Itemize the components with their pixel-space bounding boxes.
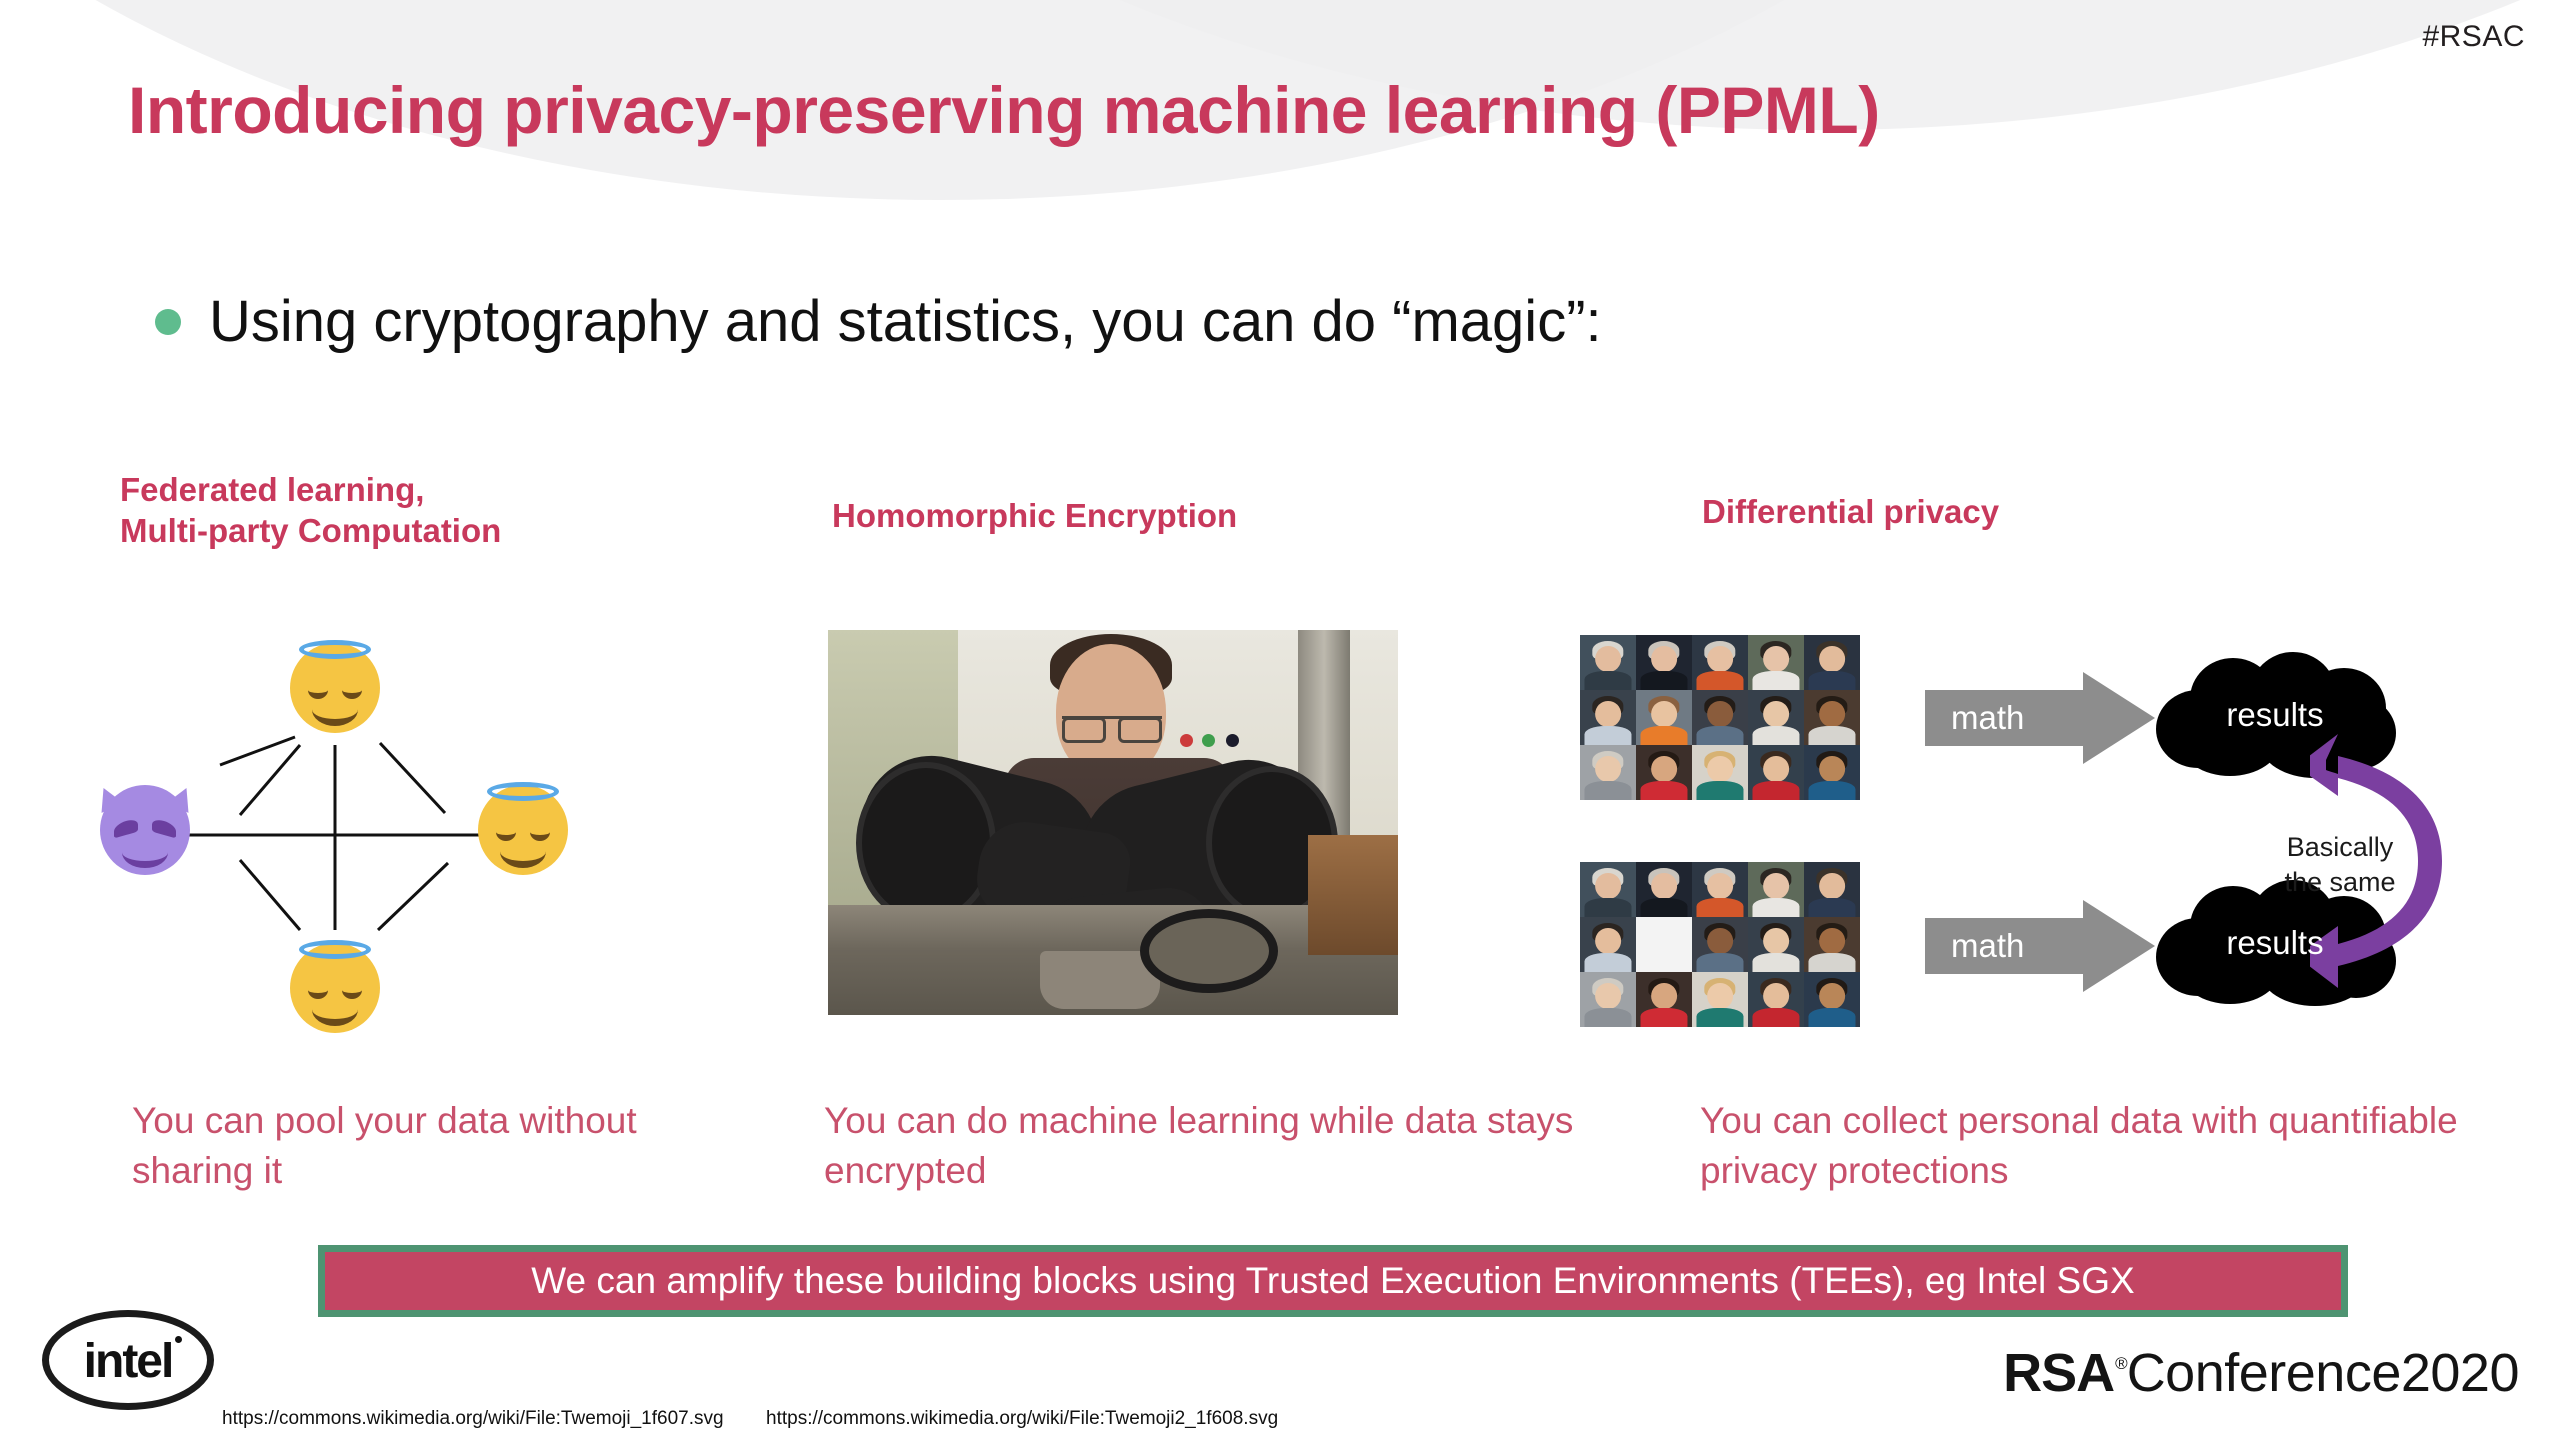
column-heading-homomorphic-encryption: Homomorphic Encryption: [832, 496, 1237, 537]
intel-logo-registered-dot: [175, 1336, 182, 1343]
math-arrow-bottom: math: [1925, 900, 2155, 992]
arrow-head: [2083, 900, 2155, 992]
photo-glovebox-port: [1140, 909, 1278, 993]
smile-mouth: [312, 993, 358, 1026]
face-cell: [1748, 690, 1804, 745]
face-cell: [1692, 972, 1748, 1027]
caption-differential-privacy: You can collect personal data with quant…: [1700, 1096, 2500, 1196]
face-cell-redacted: [1636, 917, 1692, 972]
face-cell: [1692, 862, 1748, 917]
face-cell: [1804, 862, 1860, 917]
rsa-conference-logo: RSA®Conference2020: [2003, 1342, 2519, 1404]
bullet-dot-icon: [155, 309, 181, 335]
same-label-line-2: the same: [2270, 865, 2410, 900]
smile-mouth: [312, 693, 358, 726]
math-arrow-label: math: [1951, 697, 2024, 739]
column-heading-line-2: Multi-party Computation: [120, 511, 501, 552]
main-bullet: Using cryptography and statistics, you c…: [155, 288, 1602, 355]
math-arrow-label: math: [1951, 925, 2024, 967]
faces-grid-one-removed: [1580, 862, 1860, 1027]
main-bullet-label: Using cryptography and statistics, you c…: [209, 288, 1602, 355]
face-cell: [1692, 690, 1748, 745]
credit-url-twemoji-angel: https://commons.wikimedia.org/wiki/File:…: [222, 1408, 724, 1430]
face-cell: [1580, 972, 1636, 1027]
photo-person-glasses: [1062, 716, 1162, 737]
face-cell: [1580, 862, 1636, 917]
registered-trademark-icon: ®: [2115, 1354, 2128, 1374]
face-cell: [1580, 745, 1636, 800]
halo-icon: [487, 782, 559, 801]
caption-homomorphic-encryption: You can do machine learning while data s…: [824, 1096, 1584, 1196]
face-cell: [1636, 690, 1692, 745]
photo-glove-cuff-left: [856, 762, 996, 924]
intel-logo-wordmark: intel: [42, 1334, 214, 1389]
column-heading-differential-privacy: Differential privacy: [1702, 492, 1999, 533]
tee-banner: We can amplify these building blocks usi…: [318, 1245, 2348, 1317]
conference-wordmark: Conference2020: [2127, 1342, 2519, 1404]
slide-canvas: #RSAC Introducing privacy-preserving mac…: [0, 0, 2559, 1439]
halo-icon: [299, 640, 371, 659]
face-cell: [1636, 972, 1692, 1027]
math-arrow-top: math: [1925, 672, 2155, 764]
face-cell: [1748, 745, 1804, 800]
caption-federated-learning: You can pool your data without sharing i…: [132, 1096, 752, 1196]
face-cell: [1580, 635, 1636, 690]
page-title: Introducing privacy-preserving machine l…: [128, 72, 2448, 148]
node-angel-right: [478, 785, 568, 875]
differential-privacy-diagram: math math results resul: [1580, 630, 2480, 1030]
tee-banner-label: We can amplify these building blocks usi…: [531, 1260, 2134, 1302]
face-cell: [1692, 745, 1748, 800]
faces-grid-complete: [1580, 635, 1860, 800]
rsac-hashtag: #RSAC: [2422, 20, 2525, 54]
face-cell: [1804, 690, 1860, 745]
credit-url-twemoji-devil: https://commons.wikimedia.org/wiki/File:…: [766, 1408, 1278, 1430]
face-cell: [1636, 745, 1692, 800]
smile-mouth: [500, 835, 546, 868]
face-cell: [1804, 917, 1860, 972]
face-cell: [1580, 917, 1636, 972]
rsa-wordmark: RSA: [2003, 1342, 2114, 1404]
same-label-line-1: Basically: [2270, 830, 2410, 865]
face-cell: [1804, 635, 1860, 690]
results-cloud-label: results: [2150, 924, 2400, 962]
face-cell: [1580, 690, 1636, 745]
face-cell: [1636, 635, 1692, 690]
face-cell: [1692, 635, 1748, 690]
halo-icon: [299, 940, 371, 959]
arrow-head: [2083, 672, 2155, 764]
face-cell: [1748, 972, 1804, 1027]
devil-smile-mouth: [122, 837, 168, 868]
face-cell: [1748, 635, 1804, 690]
node-devil-left: [100, 785, 190, 875]
face-cell: [1804, 972, 1860, 1027]
photo-indicator-lights: [1180, 734, 1242, 748]
face-cell: [1692, 917, 1748, 972]
intel-logo: intel: [42, 1310, 214, 1410]
photo-counter: [1308, 835, 1398, 955]
face-cell: [1748, 917, 1804, 972]
node-angel-bottom: [290, 943, 380, 1033]
results-cloud-label: results: [2150, 696, 2400, 734]
face-cell: [1636, 862, 1692, 917]
glovebox-photo: [828, 630, 1398, 1015]
node-angel-top: [290, 643, 380, 733]
column-heading-federated-learning: Federated learning, Multi-party Computat…: [120, 470, 501, 552]
mpc-network-diagram: [100, 625, 580, 1045]
face-cell: [1804, 745, 1860, 800]
face-cell: [1748, 862, 1804, 917]
column-heading-line-1: Federated learning,: [120, 470, 501, 511]
basically-the-same-label: Basically the same: [2270, 830, 2410, 899]
